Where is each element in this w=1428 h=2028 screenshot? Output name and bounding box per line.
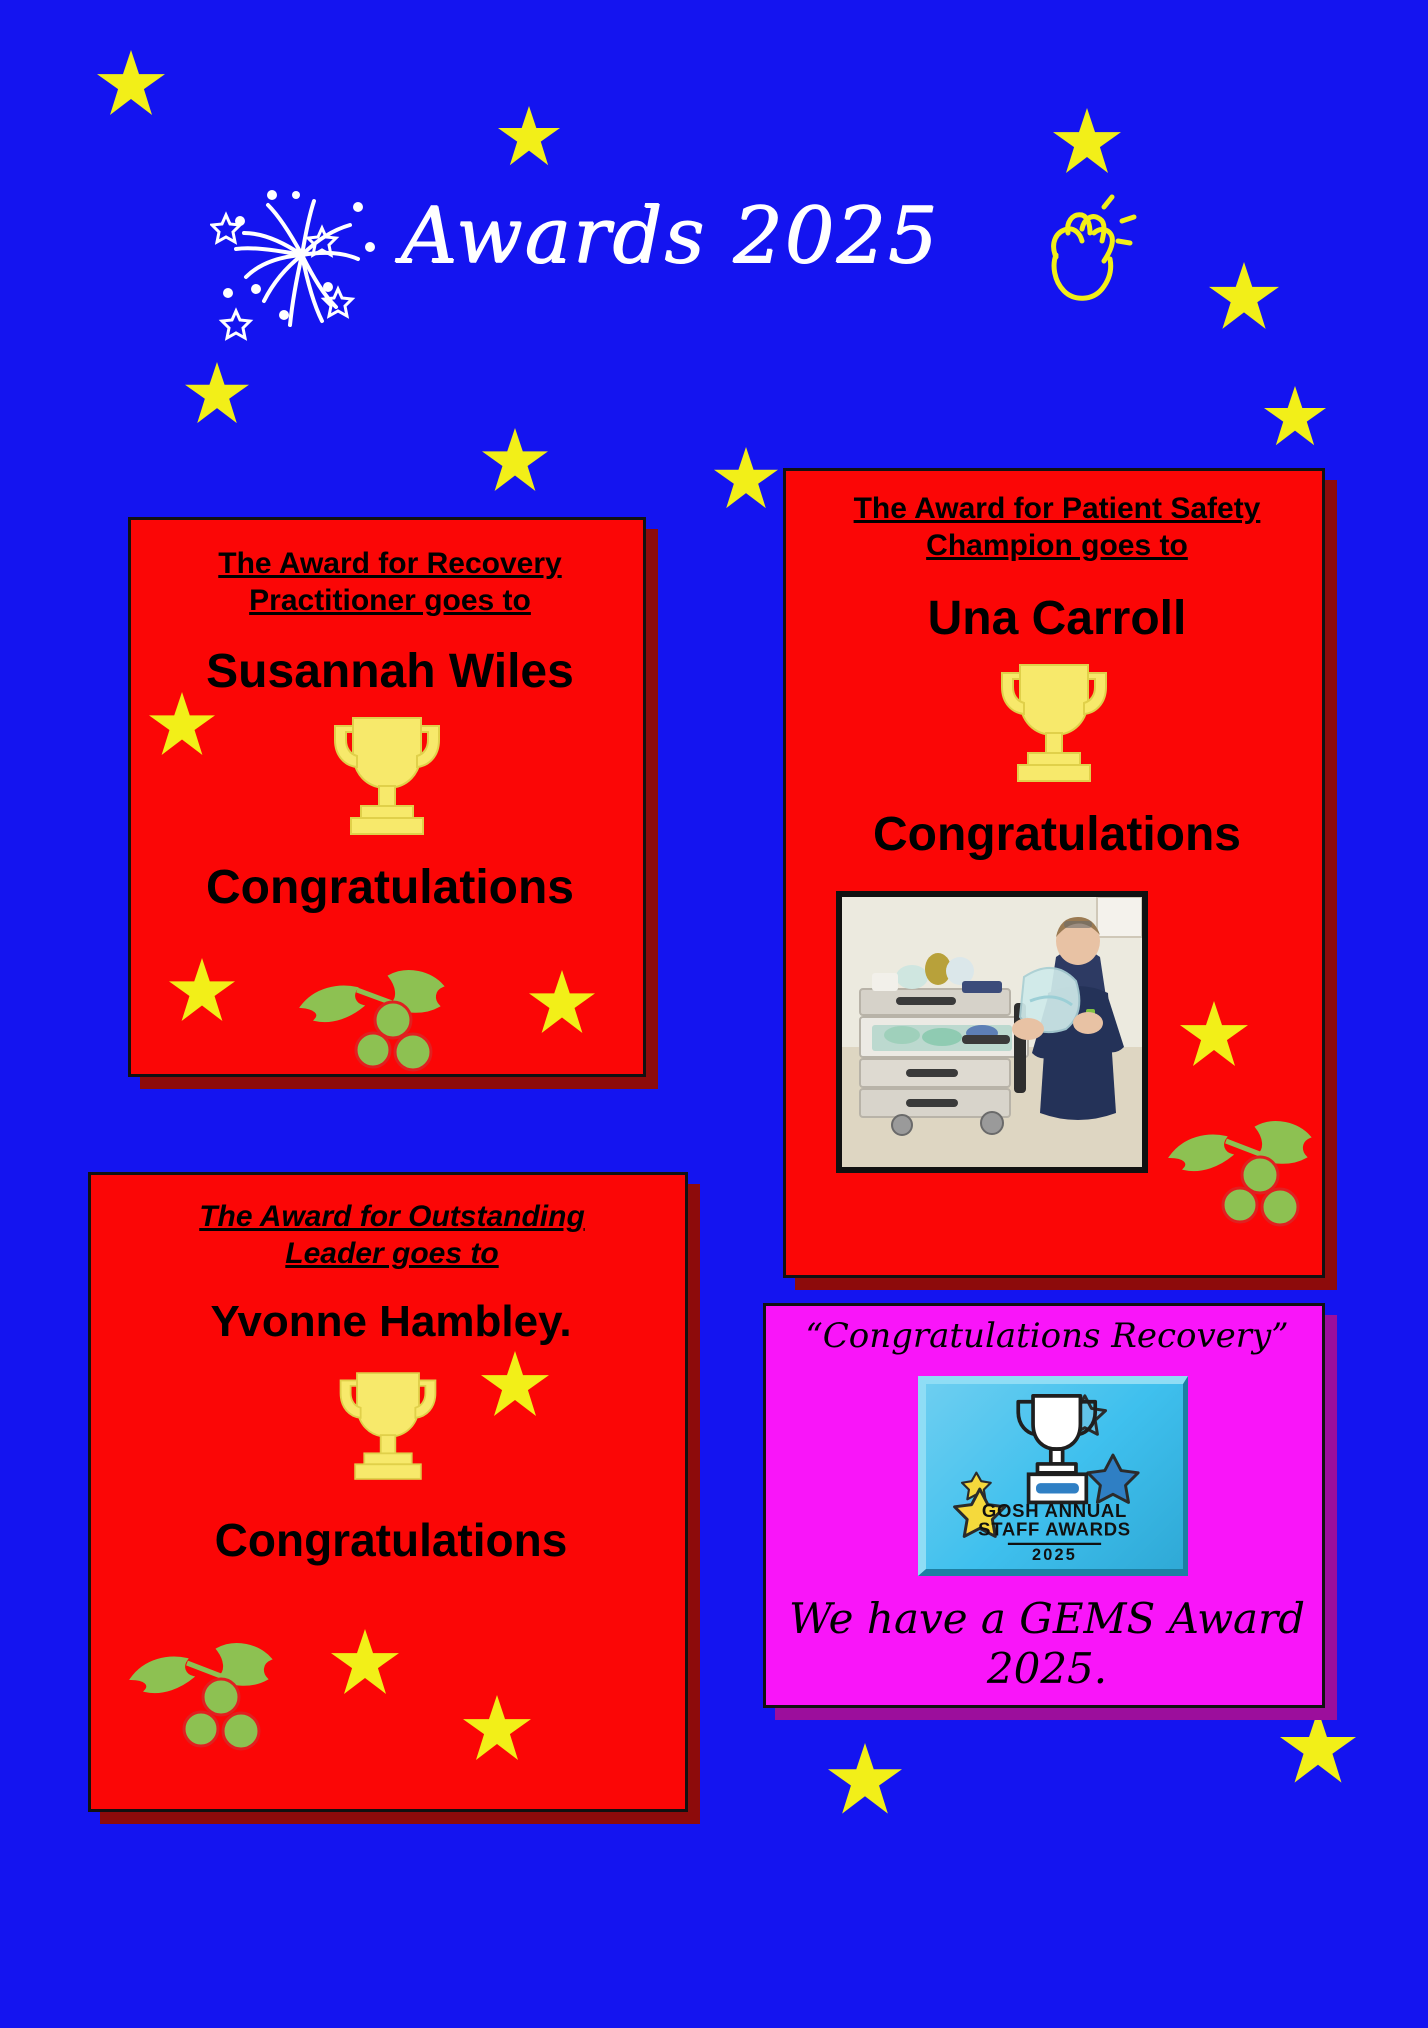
- award-heading: The Award for Outstanding Leader goes to: [161, 1199, 623, 1272]
- gosh-staff-awards-logo: GOSH ANNUAL STAFF AWARDS 2025: [918, 1376, 1188, 1576]
- award-card-patient-safety-champion[interactable]: The Award for Patient Safety Champion go…: [783, 468, 1325, 1278]
- decorative-star: [463, 1695, 531, 1763]
- award-recipient-name: Una Carroll: [806, 591, 1308, 646]
- holly-decoration: [281, 952, 471, 1072]
- decorative-star: [1180, 1001, 1248, 1069]
- decorative-star: [185, 362, 249, 426]
- firework-icon: [210, 185, 380, 345]
- decorative-star: [1209, 262, 1279, 332]
- decorative-star: [97, 50, 165, 118]
- trophy-icon: [986, 657, 1122, 789]
- decorative-star: [714, 447, 778, 511]
- award-card-recovery-practitioner[interactable]: The Award for Recovery Practitioner goes…: [128, 517, 646, 1077]
- decorative-star: [529, 970, 595, 1036]
- decorative-star: [1264, 386, 1326, 448]
- trophy-icon: [326, 1365, 450, 1487]
- gems-quote-text: “Congratulations Recovery”: [780, 1316, 1314, 1356]
- trophy-icon: [319, 710, 455, 842]
- holly-decoration: [111, 1627, 301, 1767]
- holly-decoration: [1152, 1109, 1325, 1239]
- congratulations-text: Congratulations: [139, 860, 641, 915]
- award-card-outstanding-leader[interactable]: The Award for Outstanding Leader goes to…: [88, 1172, 688, 1812]
- decorative-star: [498, 106, 560, 168]
- decorative-star: [169, 958, 235, 1024]
- awards-poster: Awards 2025 The Award for Recovery Pract…: [0, 0, 1428, 2028]
- award-recipient-name: Yvonne Hambley.: [131, 1297, 651, 1348]
- congratulations-text: Congratulations: [111, 1513, 671, 1567]
- gems-logo-line2: STAFF AWARDS: [978, 1519, 1131, 1540]
- gems-logo-year: 2025: [1032, 1546, 1077, 1564]
- congratulations-text: Congratulations: [790, 807, 1324, 862]
- award-heading: The Award for Recovery Practitioner goes…: [159, 546, 621, 619]
- decorative-star: [1053, 108, 1121, 176]
- decorative-star: [1280, 1710, 1356, 1786]
- decorative-star: [828, 1743, 902, 1817]
- decorative-star: [482, 428, 548, 494]
- gems-caption-text: We have a GEMS Award 2025.: [776, 1594, 1318, 1693]
- award-recipient-name: Susannah Wiles: [149, 644, 631, 699]
- poster-header: Awards 2025: [0, 185, 1428, 335]
- page-title: Awards 2025: [390, 191, 950, 281]
- clapping-hands-icon: [1030, 193, 1140, 323]
- recipient-photo: [836, 891, 1148, 1173]
- decorative-star: [481, 1351, 549, 1419]
- decorative-star: [331, 1629, 399, 1697]
- award-heading: The Award for Patient Safety Champion go…: [808, 491, 1306, 564]
- gems-award-card[interactable]: “Congratulations Recovery”: [763, 1303, 1325, 1708]
- decorative-star: [149, 692, 215, 758]
